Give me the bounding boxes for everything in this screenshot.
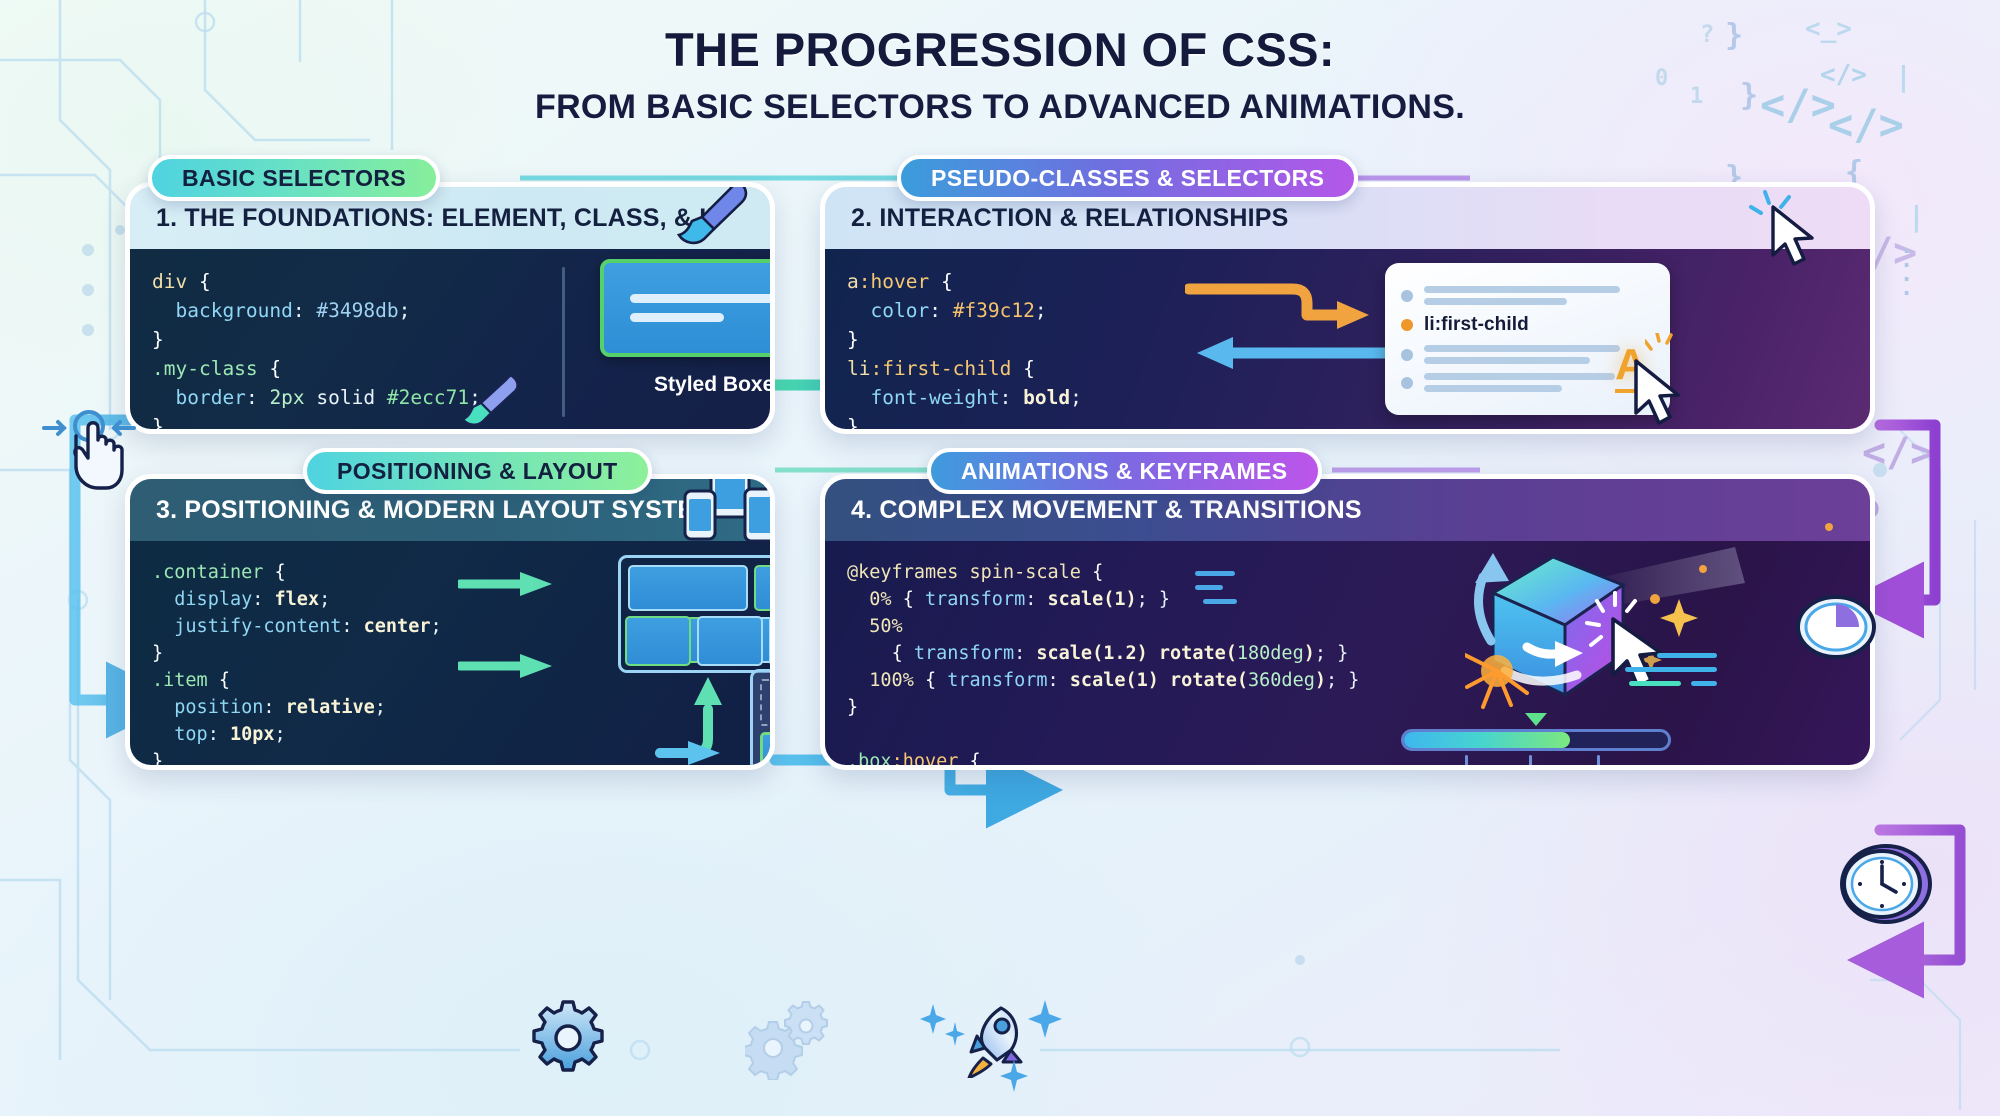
- panel-pseudo-classes[interactable]: 2. INTERACTION & RELATIONSHIPS a:hover {…: [820, 182, 1875, 434]
- panel2-heading: 2. INTERACTION & RELATIONSHIPS: [851, 204, 1289, 233]
- list-bar: [1424, 373, 1615, 380]
- list-bar: [1424, 385, 1562, 392]
- clock-icon: [1838, 840, 1934, 928]
- code-glyph-dots: ....: [1900, 240, 1913, 296]
- header-dot: [1825, 523, 1833, 531]
- panel-positioning-layout[interactable]: 3. POSITIONING & MODERN LAYOUT SYSTEMS .…: [125, 474, 775, 770]
- progress-tick: [1597, 755, 1600, 767]
- code-glyph-bar-2: |: [1908, 200, 1925, 233]
- deco-line-6: [1629, 681, 1681, 686]
- sparkle-icon: [1028, 1000, 1062, 1038]
- list-bar: [1424, 286, 1620, 293]
- badge-animations-keyframes[interactable]: ANIMATIONS & KEYFRAMES: [927, 448, 1322, 494]
- list-bar: [1424, 357, 1590, 364]
- badge-positioning-layout[interactable]: POSITIONING & LAYOUT: [303, 448, 652, 494]
- styled-box-line-2: [630, 313, 724, 322]
- list-bar: [1424, 298, 1567, 305]
- sparkle-icon: [945, 1022, 965, 1046]
- flexbox-second-row: [625, 616, 775, 666]
- hand-pointer-icon: [42, 400, 138, 492]
- panel3-heading: 3. POSITIONING & MODERN LAYOUT SYSTEMS: [156, 496, 732, 525]
- deco-line-7: [1691, 681, 1717, 686]
- panel1-divider: [562, 267, 565, 417]
- bottom-connector-line: [1040, 1040, 1560, 1062]
- paintbrush-small-icon: [455, 371, 527, 431]
- progress-bar-fill: [1404, 732, 1570, 748]
- list-item-highlight-label: li:first-child: [1424, 314, 1529, 336]
- panel4-heading: 4. COMPLEX MOVEMENT & TRANSITIONS: [851, 496, 1362, 525]
- styled-boxes-caption: Styled Boxes: [600, 373, 775, 397]
- deco-line-5: [1625, 667, 1717, 672]
- list-bullet-icon: [1401, 349, 1413, 361]
- panel1-illustration: Styled Boxes: [600, 259, 768, 397]
- flex-item-highlighted: [754, 565, 775, 611]
- styled-box-line-1: [630, 294, 775, 303]
- progress-tick: [1465, 755, 1468, 767]
- deco-line-1: [1195, 571, 1235, 576]
- cube-icon: [1465, 547, 1755, 717]
- list-bullet-icon: [1401, 290, 1413, 302]
- panel1-code-block: div { background: #3498db; } .my-class {…: [130, 249, 481, 429]
- list-item-highlighted: li:first-child: [1401, 314, 1654, 336]
- infographic-canvas: <_> </> </> </> </> </> { } } } ? 0 1 o …: [0, 0, 2000, 1116]
- code-glyph-tag-5: </>: [1862, 430, 1934, 476]
- page-title: THE PROGRESSION OF CSS: FROM BASIC SELEC…: [0, 22, 2000, 127]
- panel-animations-keyframes[interactable]: 4. COMPLEX MOVEMENT & TRANSITIONS @keyfr…: [820, 474, 1875, 770]
- progress-tick: [1529, 755, 1532, 767]
- badge-pseudo-classes[interactable]: PSEUDO-CLASSES & SELECTORS: [897, 155, 1358, 201]
- panel-basic-selectors[interactable]: 1. THE FOUNDATIONS: ELEMENT, CLASS, & ID…: [125, 182, 775, 434]
- progress-bar[interactable]: [1401, 729, 1671, 751]
- sparkle-icon: [1000, 1060, 1028, 1092]
- panel4-body: @keyframes spin-scale { 0% { transform: …: [825, 541, 1870, 765]
- flex-item-highlighted: [625, 616, 691, 666]
- panel2-code-block: a:hover { color: #f39c12; } li:first-chi…: [825, 249, 1082, 429]
- title-line-2: FROM BASIC SELECTORS TO ADVANCED ANIMATI…: [0, 88, 2000, 127]
- flex-item: [697, 616, 763, 666]
- grid-cell: [760, 679, 775, 726]
- sparkle-icon: [920, 1004, 946, 1034]
- deco-line-4: [1657, 653, 1717, 658]
- progress-marker-icon: [1525, 713, 1547, 726]
- panel1-body: div { background: #3498db; } .my-class {…: [130, 249, 770, 429]
- badge-basic-selectors[interactable]: BASIC SELECTORS: [148, 155, 440, 201]
- arrow-to-grid: [638, 669, 768, 769]
- grid-diagram: [750, 669, 775, 770]
- panel1-heading: 1. THE FOUNDATIONS: ELEMENT, CLASS, & ID: [156, 204, 725, 233]
- panel2-body: a:hover { color: #f39c12; } li:first-chi…: [825, 249, 1870, 429]
- list-bullet-icon: [1401, 377, 1413, 389]
- arrow-left-blue: [1193, 331, 1393, 375]
- arrow-flex-2: [458, 651, 558, 681]
- devices-icon: [675, 474, 775, 549]
- spark-icon-header: [1745, 189, 1805, 245]
- flex-item: [628, 565, 748, 611]
- styled-box-preview: [600, 259, 775, 357]
- flex-item: [769, 616, 775, 666]
- list-item-bars: [1424, 286, 1654, 305]
- panel4-code-block: @keyframes spin-scale { 0% { transform: …: [825, 541, 1359, 765]
- gears-icon: [745, 1000, 835, 1080]
- deco-line-3: [1203, 599, 1237, 604]
- list-item: [1401, 286, 1654, 305]
- grid-cell-filled: [760, 732, 775, 770]
- paintbrush-icon: [670, 182, 760, 251]
- list-bar: [1424, 345, 1620, 352]
- list-bullet-active-icon: [1401, 319, 1413, 331]
- gear-icon: [530, 1000, 606, 1076]
- title-line-1: THE PROGRESSION OF CSS:: [0, 22, 2000, 77]
- cursor-icon: [1630, 357, 1686, 429]
- arrow-flex-1: [458, 569, 558, 599]
- deco-line-2: [1195, 585, 1223, 590]
- pie-clock-icon: [1795, 590, 1877, 664]
- panel3-body: .container { display: flex; justify-cont…: [130, 541, 770, 765]
